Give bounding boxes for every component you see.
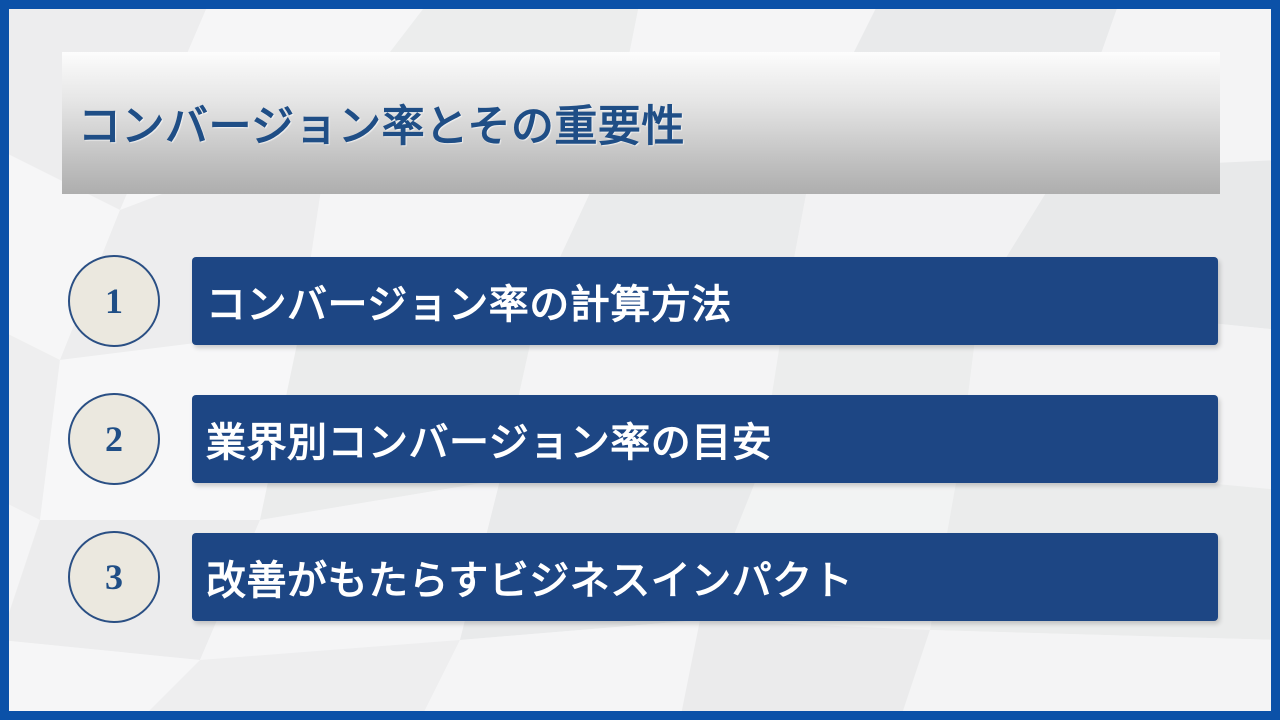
agenda-bar-3[interactable]: 改善がもたらすビジネスインパクト — [192, 533, 1218, 621]
presentation-slide: コンバージョン率とその重要性 1 コンバージョン率の計算方法 2 業界別コンバー… — [0, 0, 1280, 720]
agenda-item-label-3: 改善がもたらすビジネスインパクト — [206, 548, 853, 606]
agenda-item-3[interactable]: 3 改善がもたらすビジネスインパクト — [68, 529, 1218, 625]
agenda-number-badge-1: 1 — [68, 255, 160, 347]
agenda-item-1[interactable]: 1 コンバージョン率の計算方法 — [68, 253, 1218, 349]
agenda-list: 1 コンバージョン率の計算方法 2 業界別コンバージョン率の目安 3 改善がもた… — [0, 0, 1280, 720]
agenda-bar-1[interactable]: コンバージョン率の計算方法 — [192, 257, 1218, 345]
agenda-number-badge-3: 3 — [68, 531, 160, 623]
agenda-bar-2[interactable]: 業界別コンバージョン率の目安 — [192, 395, 1218, 483]
agenda-number-badge-2: 2 — [68, 393, 160, 485]
agenda-item-label-1: コンバージョン率の計算方法 — [206, 272, 732, 330]
agenda-item-label-2: 業界別コンバージョン率の目安 — [206, 410, 772, 468]
agenda-item-2[interactable]: 2 業界別コンバージョン率の目安 — [68, 391, 1218, 487]
